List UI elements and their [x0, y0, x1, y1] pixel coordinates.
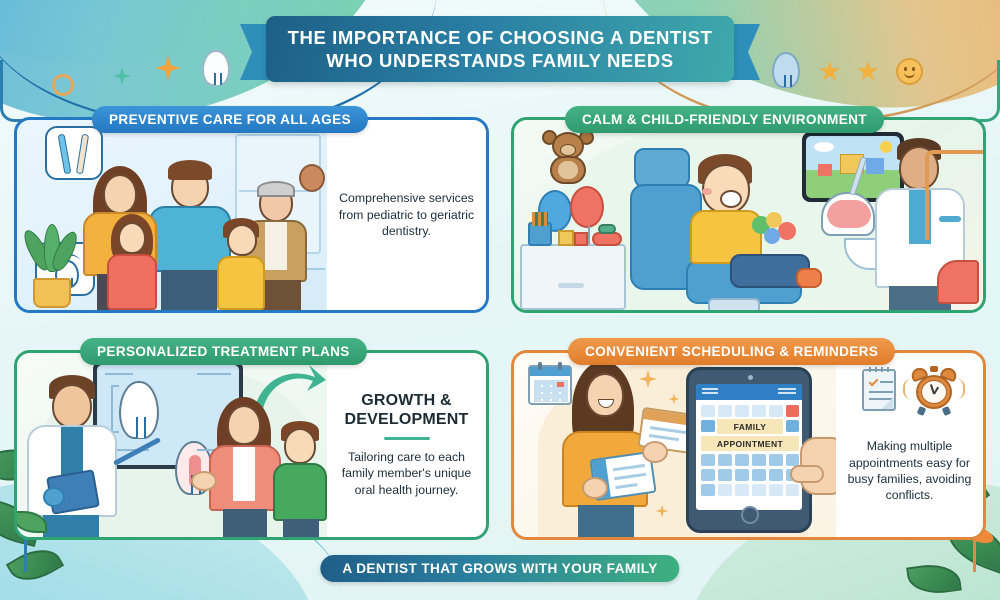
toy-blocks — [558, 230, 574, 246]
panel-pill-label: PERSONALIZED TREATMENT PLANS — [97, 344, 350, 359]
mother-open-hand — [191, 471, 217, 491]
son-shirt — [273, 463, 327, 521]
child-shoe — [796, 268, 822, 288]
calendar-cell — [769, 405, 783, 417]
father-legs — [161, 270, 217, 310]
calendar-cell — [769, 484, 783, 496]
clipboard-check — [868, 377, 878, 387]
mother-head — [227, 405, 261, 445]
footer-label: A DENTIST THAT GROWS WITH YOUR FAMILY — [342, 561, 657, 576]
calendar-cell — [735, 405, 749, 417]
appointment-label-line-2: APPOINTMENT — [717, 439, 783, 449]
panel-heading-line-1: GROWTH & — [361, 392, 451, 409]
star-icon: ★ — [818, 58, 841, 84]
panel-pill-label: CALM & CHILD-FRIENDLY ENVIRONMENT — [582, 112, 867, 127]
girl-head — [118, 222, 146, 254]
teddy-muzzle — [560, 144, 576, 156]
panel-pill-label: PREVENTIVE CARE FOR ALL AGES — [109, 112, 351, 127]
app-menu-lines — [702, 388, 718, 396]
panel-heading: GROWTH & DEVELOPMENT — [345, 392, 469, 430]
clock-leg — [916, 406, 925, 416]
calendar-cell — [701, 420, 715, 432]
alarm-clock-icon — [910, 367, 958, 413]
playground-slide — [937, 260, 979, 304]
heading-divider — [384, 437, 430, 440]
toy-part — [764, 228, 780, 244]
person-boy — [213, 218, 271, 310]
ring-icon — [52, 74, 74, 96]
title-banner-body: THE IMPORTANCE OF CHOOSING A DENTIST WHO… — [266, 16, 734, 82]
card-line — [650, 426, 686, 434]
waving-hand — [299, 164, 325, 192]
father-hair — [168, 160, 212, 180]
tablet-device: FAMILY APPOINTMENT — [686, 367, 812, 533]
page-title: THE IMPORTANCE OF CHOOSING A DENTIST WHO… — [278, 26, 723, 72]
woman-head — [586, 373, 624, 417]
gloved-hand — [43, 487, 65, 507]
calendar-cell — [718, 405, 732, 417]
panel-preventive-care: Comprehensive services from pediatric to… — [14, 117, 489, 313]
tv-cloud — [814, 142, 834, 152]
grandparent-hair — [257, 181, 295, 197]
tooth-blue-icon — [772, 52, 800, 88]
table-drawer-handle — [558, 283, 584, 288]
calendar-ring — [538, 362, 542, 370]
clipboard-line — [869, 398, 893, 400]
dentist-legs — [43, 515, 99, 537]
calendar-cell — [718, 484, 732, 496]
illustration-convenient-scheduling: FAMILY APPOINTMENT — [514, 353, 836, 537]
clipboard-rings — [869, 367, 893, 372]
calendar-cell — [735, 484, 749, 496]
illustration-preventive-care — [17, 120, 327, 310]
card-line — [614, 473, 646, 480]
toothbrush-1 — [58, 134, 72, 175]
person-son-patient — [269, 421, 327, 537]
panel-body-text: Comprehensive services from pediatric to… — [335, 190, 478, 239]
son-head — [284, 428, 316, 464]
stacking-ring-top — [598, 224, 616, 234]
app-header-lines — [778, 388, 796, 396]
calendar-cell — [701, 469, 715, 481]
calendar-cell — [718, 454, 732, 466]
card-line — [615, 483, 637, 489]
ringing-wave — [957, 379, 965, 399]
dentist-head — [52, 384, 92, 428]
leaf-icon — [6, 540, 64, 591]
panel-copy-convenient-scheduling: Making multiple appointments easy for bu… — [836, 353, 983, 537]
panel-heading-line-2: DEVELOPMENT — [345, 411, 469, 428]
star-icon: ★ — [856, 58, 879, 84]
panel-calm-environment — [511, 117, 986, 313]
son-legs — [283, 519, 319, 537]
teddy-bear-icon — [540, 128, 596, 184]
illustration-personalized-plans — [17, 353, 327, 537]
ringing-wave — [903, 379, 911, 399]
calendar-cell — [735, 454, 749, 466]
colorful-toy — [752, 212, 804, 248]
swing-seat — [939, 216, 961, 222]
panel-copy-preventive-care: Comprehensive services from pediatric to… — [327, 120, 486, 310]
person-dentist-presenter — [25, 375, 121, 537]
toy-part — [778, 222, 796, 240]
mother-legs — [223, 509, 267, 537]
calendar-cell — [701, 484, 715, 496]
calendar-cell — [769, 454, 783, 466]
tooth-healthy-diagram — [119, 381, 159, 439]
toy-blocks — [574, 232, 588, 246]
calendar-cell — [701, 405, 715, 417]
clipboard-line — [880, 381, 893, 383]
tooth-icon — [202, 50, 230, 86]
mother-head — [103, 174, 137, 214]
person-girl — [101, 214, 163, 310]
holding-hand-fingers — [790, 465, 824, 483]
checklist-clipboard-icon — [862, 369, 896, 411]
panel-body-text: Making multiple appointments easy for bu… — [844, 438, 975, 503]
calendar-cell-highlight — [786, 405, 799, 417]
panel-personalized-plans: GROWTH & DEVELOPMENT Tailoring care to e… — [14, 350, 489, 540]
calendar-cell — [752, 454, 766, 466]
woman-hand — [642, 441, 668, 463]
title-banner: THE IMPORTANCE OF CHOOSING A DENTIST WHO… — [240, 16, 760, 88]
clock-leg — [941, 406, 950, 416]
balloon-red-icon — [570, 186, 604, 228]
panel-pill-convenient-scheduling[interactable]: CONVENIENT SCHEDULING & REMINDERS — [568, 338, 895, 365]
panel-body-text: Tailoring care to each family member's u… — [335, 449, 478, 498]
panel-convenient-scheduling: FAMILY APPOINTMENT — [511, 350, 986, 540]
footer-banner[interactable]: A DENTIST THAT GROWS WITH YOUR FAMILY — [320, 555, 679, 582]
plant-pot — [33, 278, 71, 308]
appointment-label-row-1: FAMILY — [717, 419, 783, 434]
infographic-canvas: ★ ★ THE IMPORTANCE OF CHOOSING A DENTIST… — [0, 0, 1000, 600]
calendar-cell — [718, 469, 732, 481]
calendar-cell — [701, 454, 715, 466]
clock-button — [930, 366, 938, 372]
calendar-cell — [752, 469, 766, 481]
smiley-icon — [896, 58, 923, 85]
page-title-line-2: WHO UNDERSTANDS FAMILY NEEDS — [326, 50, 673, 71]
potted-plant — [23, 226, 81, 308]
panel-copy-personalized-plans: GROWTH & DEVELOPMENT Tailoring care to e… — [327, 353, 486, 537]
calendar-cell — [752, 484, 766, 496]
stacking-rings-toy — [592, 232, 622, 246]
side-table — [520, 244, 626, 310]
child-cheek — [702, 188, 712, 195]
calendar-cell — [769, 469, 783, 481]
tablet-screen: FAMILY APPOINTMENT — [696, 384, 802, 510]
panel-pill-label: CONVENIENT SCHEDULING & REMINDERS — [585, 344, 878, 359]
boy-body — [217, 256, 265, 310]
panel-pill-personalized-plans[interactable]: PERSONALIZED TREATMENT PLANS — [80, 338, 367, 365]
calendar-cell — [786, 484, 799, 496]
pencils — [532, 212, 548, 226]
panel-pill-preventive-care[interactable]: PREVENTIVE CARE FOR ALL AGES — [92, 106, 368, 133]
woman-hand — [582, 477, 608, 499]
illustration-calm-environment — [514, 120, 983, 310]
girl-body — [107, 254, 157, 310]
teddy-belly — [558, 161, 578, 179]
appointment-label-line-1: FAMILY — [734, 422, 767, 432]
calendar-cell — [735, 469, 749, 481]
leaf-icon — [906, 561, 962, 598]
card-line — [613, 464, 645, 471]
tablet-home-button[interactable] — [741, 506, 759, 524]
mother-shirt — [233, 447, 255, 501]
boy-head — [227, 224, 257, 256]
tablet-camera — [748, 375, 753, 380]
panel-pill-calm-environment[interactable]: CALM & CHILD-FRIENDLY ENVIRONMENT — [565, 106, 884, 133]
clipboard-line — [869, 391, 893, 393]
playground-frame — [925, 150, 983, 240]
tv-toy — [818, 164, 832, 176]
appointment-label-row-2: APPOINTMENT — [701, 436, 799, 451]
calendar-cell — [786, 420, 799, 432]
child-open-mouth — [720, 190, 742, 208]
calendar-cell — [752, 405, 766, 417]
page-title-line-1: THE IMPORTANCE OF CHOOSING A DENTIST — [288, 27, 713, 48]
model-gum — [827, 214, 871, 228]
dental-model-teeth — [821, 192, 875, 236]
woman-skirt — [578, 505, 634, 537]
chart-line — [197, 373, 231, 375]
